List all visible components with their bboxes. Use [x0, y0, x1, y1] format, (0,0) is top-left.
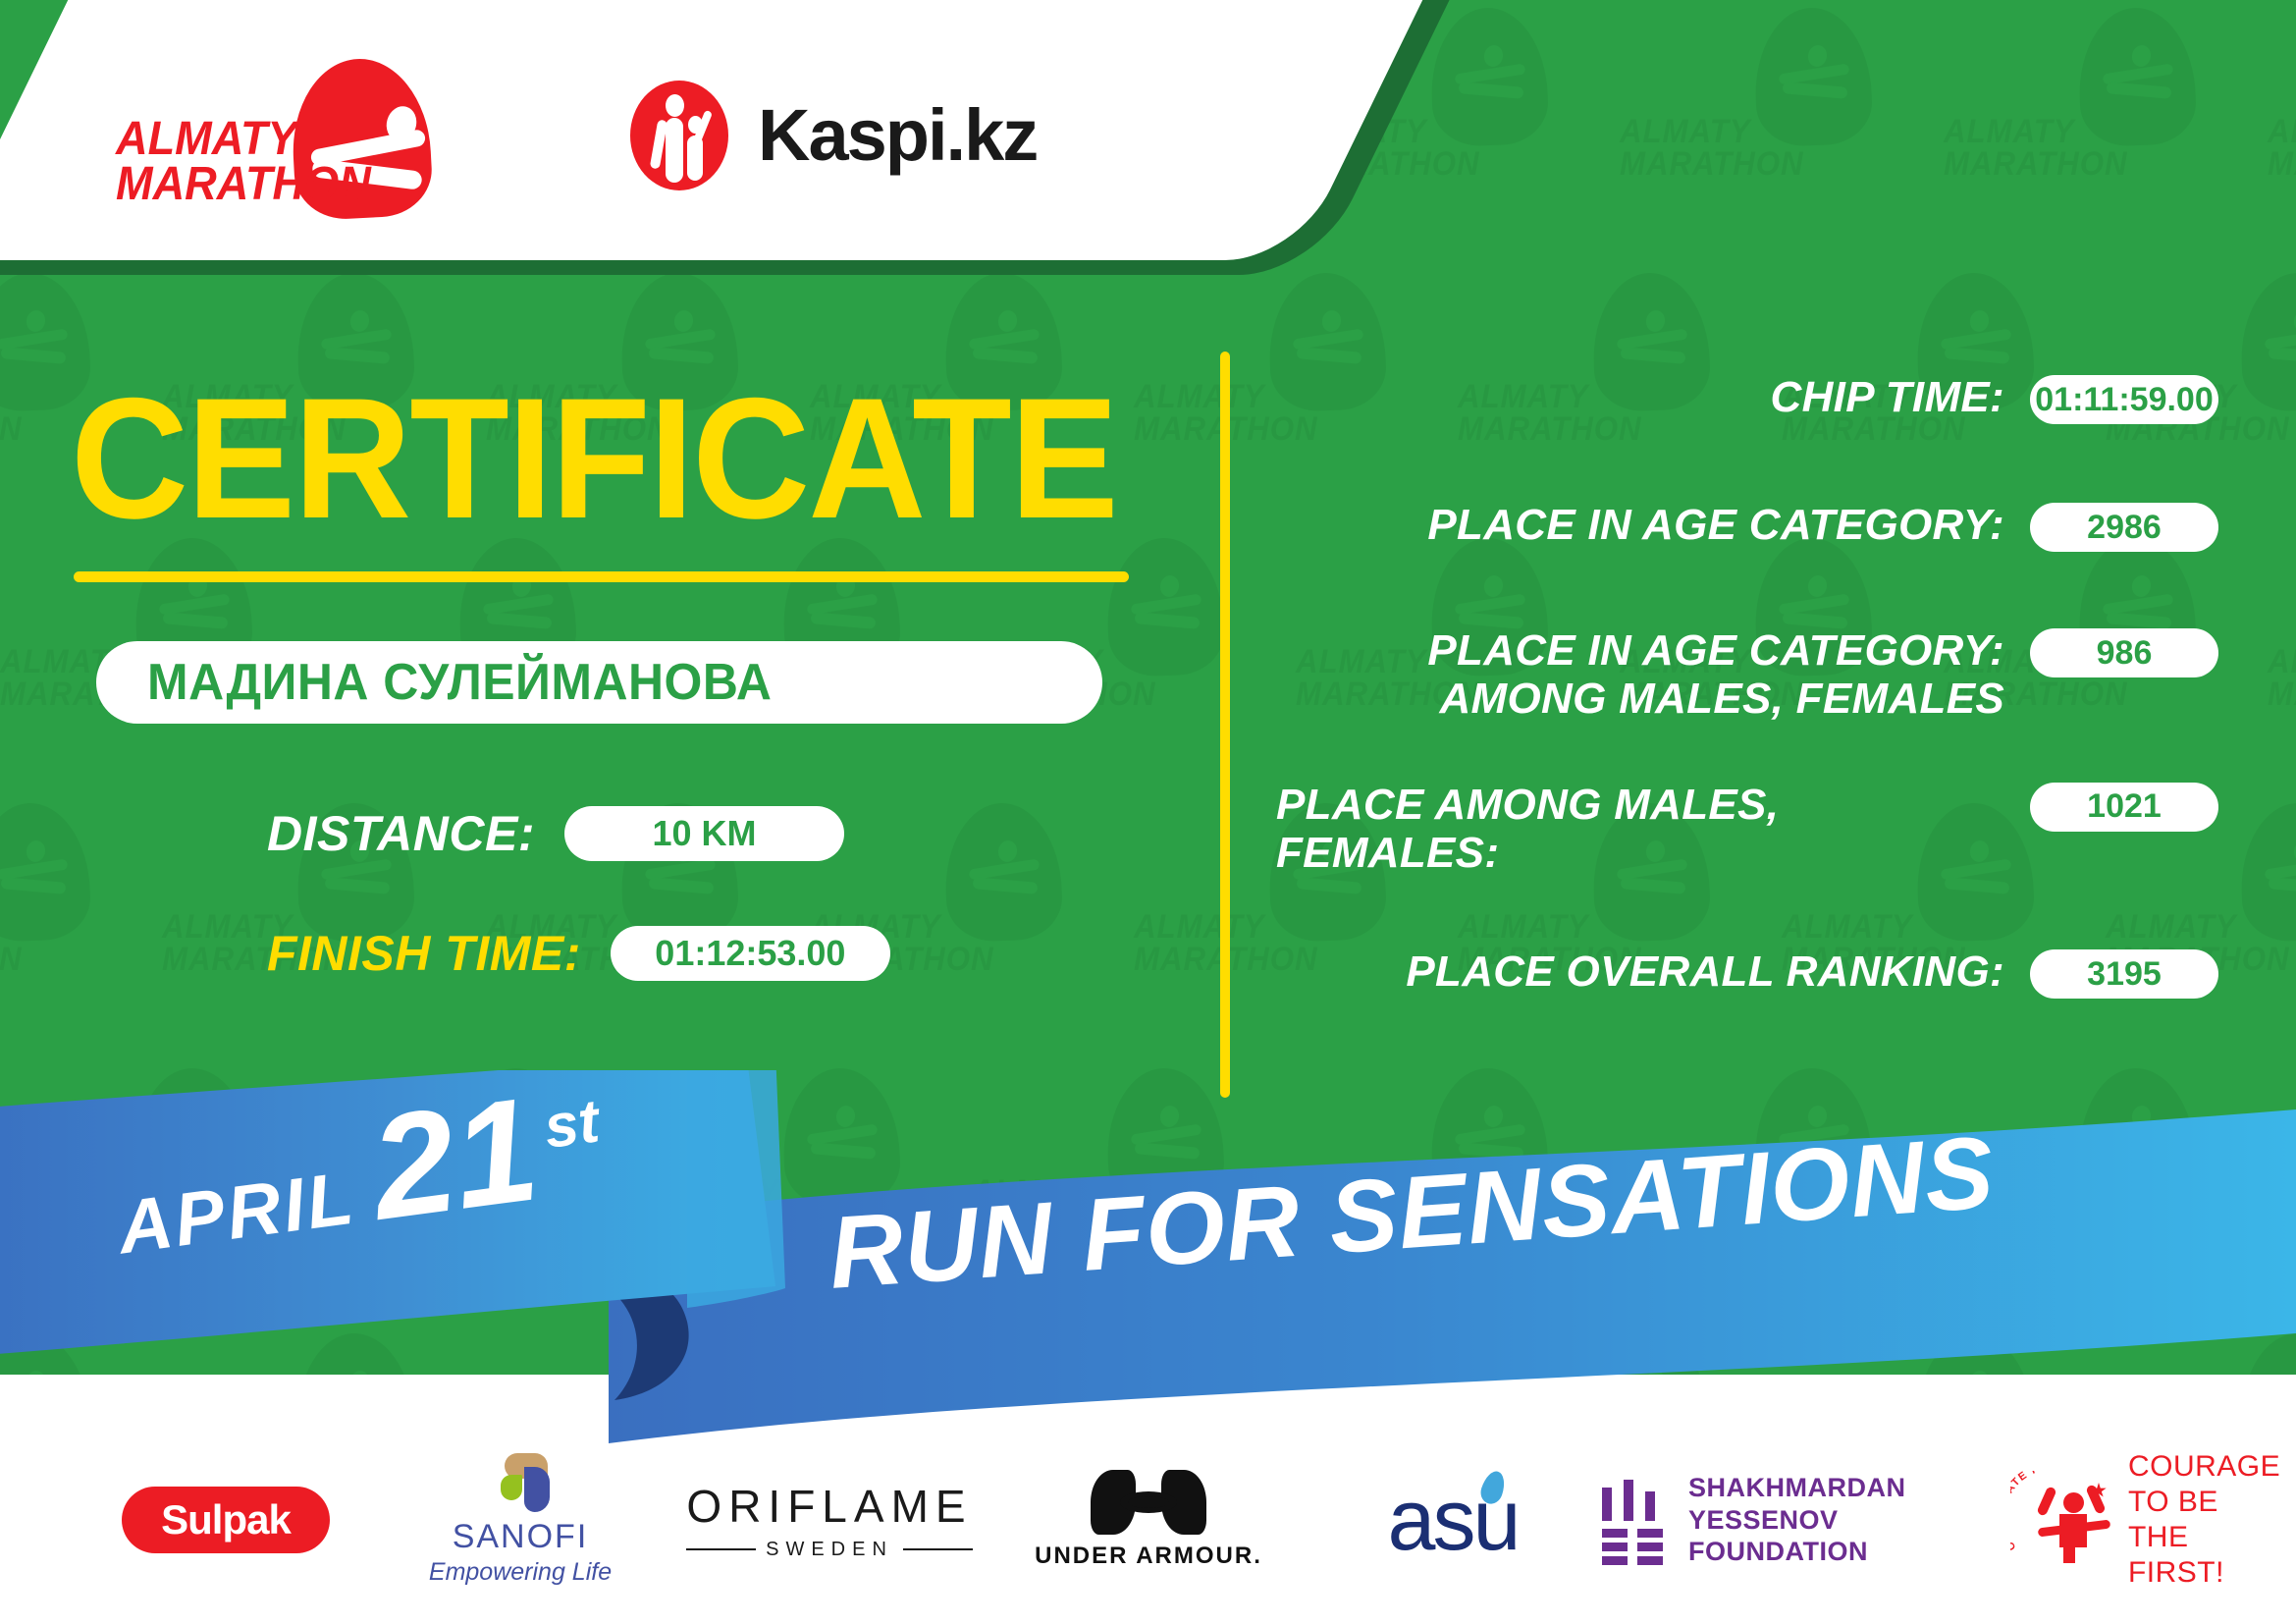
- finish-time-row: FINISH TIME: 01:12:53.00: [267, 925, 890, 982]
- stat-row-place-age-category-gender: PLACE IN AGE CATEGORY: AMONG MALES, FEMA…: [1276, 626, 2218, 724]
- place-among-gender-label: PLACE AMONG MALES, FEMALES:: [1276, 781, 2004, 878]
- sanofi-wordmark: SANOFI: [429, 1518, 612, 1556]
- oriflame-sweden-label: SWEDEN: [766, 1539, 893, 1561]
- ribbon-day: 21: [365, 1089, 543, 1227]
- almaty-marathon-logo: ALMATY MARATHON: [116, 57, 440, 214]
- oriflame-wordmark: ORIFLAME: [686, 1480, 972, 1533]
- watermark-tile: ALMATYMARATHON: [2268, 0, 2296, 265]
- courage-line-3: THE FIRST!: [2128, 1520, 2287, 1591]
- overall-ranking-label: PLACE OVERALL RANKING:: [1276, 947, 2004, 996]
- athlete-name-field: МАДИНА СУЛЕЙМАНОВА: [96, 641, 1102, 724]
- almaty-line: ALMATY: [116, 117, 371, 162]
- place-age-category-label: PLACE IN AGE CATEGORY:: [1276, 501, 2004, 549]
- sponsor-under-armour: UNDER ARMOUR.: [991, 1470, 1306, 1570]
- stat-row-place-among-gender: PLACE AMONG MALES, FEMALES: 1021: [1276, 781, 2218, 878]
- athlete-name-value: МАДИНА СУЛЕЙМАНОВА: [147, 653, 772, 712]
- under-armour-icon: [1091, 1470, 1206, 1535]
- certificate-title: CERTIFICATE: [71, 373, 1117, 545]
- overall-ranking-value-pill: 3195: [2030, 949, 2218, 999]
- sponsor-sulpak: Sulpak: [79, 1487, 373, 1553]
- place-age-category-value-pill: 2986: [2030, 503, 2218, 552]
- finish-time-value-pill: 01:12:53.00: [611, 926, 890, 981]
- sanofi-tagline: Empowering Life: [429, 1558, 612, 1587]
- chip-time-value-pill: 01:11:59.00: [2030, 375, 2218, 424]
- sponsor-bar: Sulpak SANOFI Empowering Life ORIFLAME S…: [0, 1422, 2296, 1618]
- distance-row: DISTANCE: 10 KM: [267, 805, 844, 862]
- yessenov-bars-icon: [1600, 1480, 1663, 1560]
- distance-value: 10 KM: [653, 813, 757, 854]
- watermark-tile: ALMATYMARATHON: [1944, 0, 2268, 265]
- almaty-marathon-wordmark: ALMATY MARATHON: [116, 117, 371, 207]
- courage-runner-icon: [2042, 1483, 2107, 1563]
- label-line-1: PLACE AMONG MALES,: [1276, 781, 2004, 829]
- sponsor-courage-fund: CORPORATE FUND COURAGE TO BE THE FIRST!: [2012, 1449, 2287, 1591]
- courage-line-2: TO BE: [2128, 1485, 2287, 1520]
- sulpak-wordmark: Sulpak: [161, 1496, 291, 1543]
- title-underline: [74, 571, 1129, 582]
- sulpak-logo: Sulpak: [122, 1487, 330, 1553]
- oriflame-rule-left: [686, 1548, 756, 1550]
- distance-label: DISTANCE:: [267, 805, 535, 862]
- header-panel: ALMATY MARATHON Kaspi.kz: [0, 0, 1315, 285]
- place-among-gender-value-pill: 1021: [2030, 783, 2218, 832]
- watermark-tile: ALMATYMARATHON: [0, 795, 162, 1060]
- sanofi-icon: [483, 1453, 558, 1514]
- stats-panel: CHIP TIME: 01:11:59.00 PLACE IN AGE CATE…: [1276, 373, 2218, 1042]
- place-age-category-value: 2986: [2087, 509, 2162, 547]
- sponsor-asu: asu: [1306, 1477, 1600, 1563]
- certificate-canvas: ALMATYMARATHONALMATYMARATHONALMATYMARATH…: [0, 0, 2296, 1624]
- courage-line-1: COURAGE: [2128, 1449, 2287, 1485]
- stat-row-overall-ranking: PLACE OVERALL RANKING: 3195: [1276, 947, 2218, 999]
- kaspi-wordmark: Kaspi.kz: [758, 93, 1037, 177]
- yessenov-line-1: SHAKHMARDAN YESSENOV: [1688, 1472, 2012, 1537]
- distance-value-pill: 10 KM: [564, 806, 844, 861]
- kaspi-family-icon: [626, 77, 732, 194]
- label-line-1: PLACE IN AGE CATEGORY:: [1276, 626, 2004, 675]
- place-among-gender-value: 1021: [2087, 787, 2162, 826]
- marathon-line: MARATHON: [116, 162, 371, 207]
- sponsor-sanofi: SANOFI Empowering Life: [373, 1453, 667, 1587]
- stat-row-place-age-category: PLACE IN AGE CATEGORY: 2986: [1276, 501, 2218, 552]
- sponsor-oriflame: ORIFLAME SWEDEN: [667, 1480, 991, 1561]
- courage-fund-icon: CORPORATE FUND: [2012, 1467, 2114, 1573]
- vertical-divider: [1220, 352, 1230, 1098]
- yessenov-line-2: FOUNDATION: [1688, 1536, 2012, 1568]
- label-line-2: FEMALES:: [1276, 829, 2004, 877]
- place-age-category-gender-value: 986: [2097, 634, 2153, 673]
- watermark-tile: ALMATYMARATHON: [2268, 530, 2296, 795]
- stat-row-chip-time: CHIP TIME: 01:11:59.00: [1276, 373, 2218, 424]
- place-age-category-gender-value-pill: 986: [2030, 628, 2218, 677]
- sponsor-yessenov-foundation: SHAKHMARDAN YESSENOV FOUNDATION: [1600, 1472, 2012, 1569]
- overall-ranking-value: 3195: [2087, 955, 2162, 994]
- chip-time-value: 01:11:59.00: [2035, 381, 2214, 419]
- place-age-category-gender-label: PLACE IN AGE CATEGORY: AMONG MALES, FEMA…: [1276, 626, 2004, 724]
- watermark-tile: ALMATYMARATHON: [1620, 0, 1944, 265]
- under-armour-wordmark: UNDER ARMOUR.: [1035, 1543, 1262, 1570]
- finish-time-value: 01:12:53.00: [655, 933, 845, 974]
- ribbon-day-suffix: st: [540, 1086, 603, 1163]
- kaspi-logo: Kaspi.kz: [626, 77, 1037, 194]
- chip-time-label: CHIP TIME:: [1276, 373, 2004, 421]
- oriflame-rule-right: [903, 1548, 973, 1550]
- finish-time-label: FINISH TIME:: [267, 925, 581, 982]
- label-line-2: AMONG MALES, FEMALES: [1276, 675, 2004, 723]
